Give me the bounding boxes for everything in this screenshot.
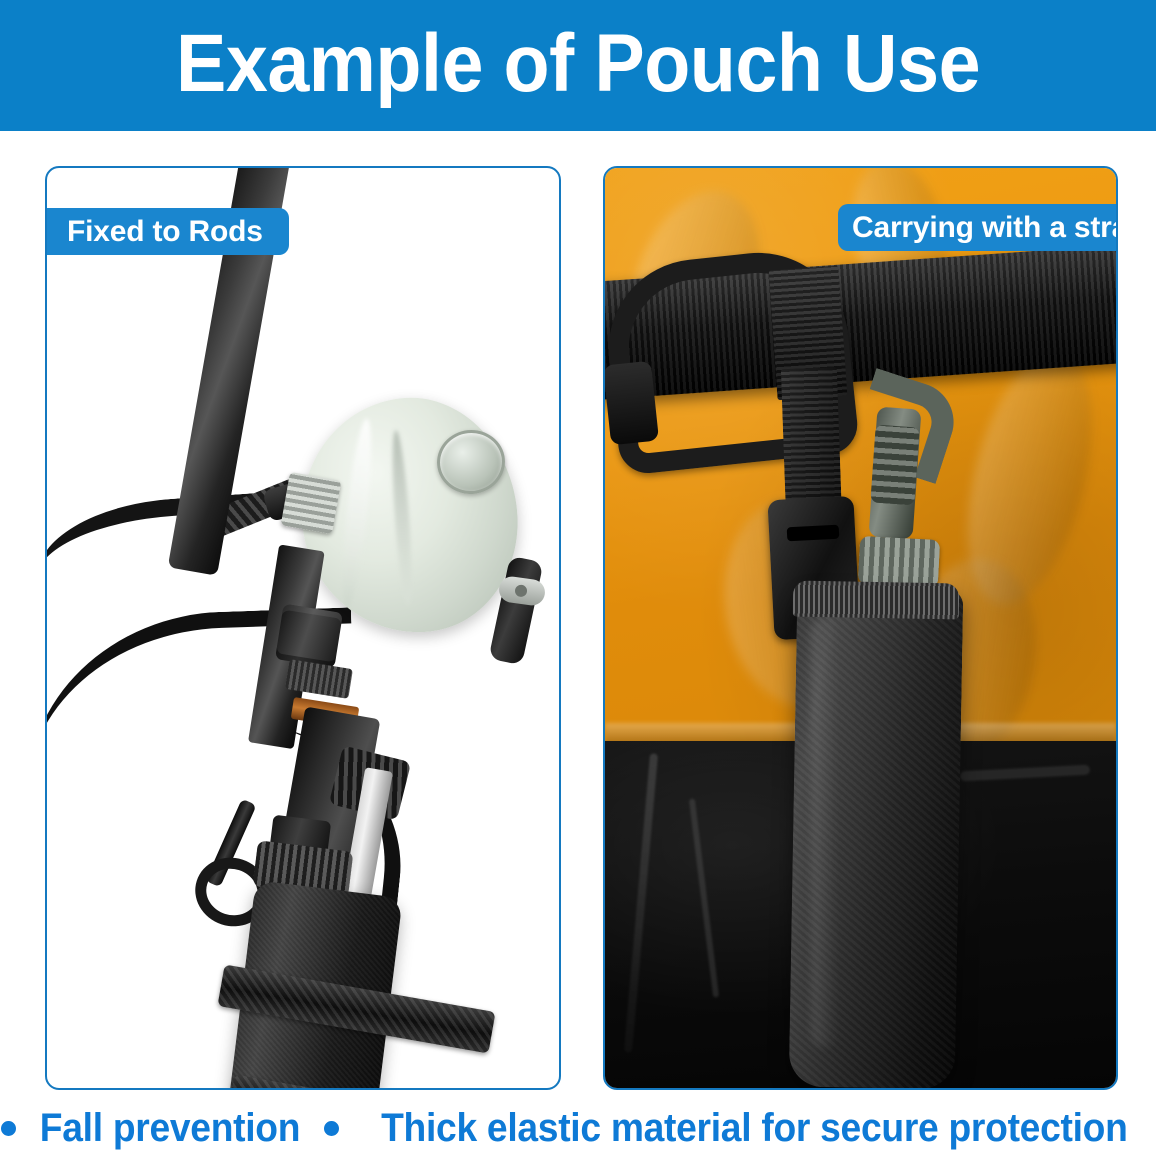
photo-rod-mounted-pouch [47, 168, 559, 1088]
badge-fixed-to-rods-label: Fixed to Rods [67, 215, 263, 249]
page-title: Example of Pouch Use [176, 23, 980, 105]
feature-caption-bar: Fall prevention Thick elastic material f… [0, 1098, 1156, 1158]
buckle-slot [787, 525, 840, 542]
bullet-dot-icon [1, 1121, 16, 1136]
feature-text-thick-elastic-material: Thick elastic material for secure protec… [381, 1106, 1127, 1151]
badge-fixed-to-rods: Fixed to Rods [47, 208, 289, 255]
connector-ribs [870, 425, 919, 506]
reel-rod-clamp [281, 472, 342, 534]
connector-collar [858, 536, 940, 588]
rod-joint-collar [275, 604, 343, 669]
belt-hook-tail [605, 361, 659, 446]
badge-carrying-with-a-strap: Carrying with a strap [838, 204, 1116, 251]
bullet-dot-icon [324, 1121, 339, 1136]
panel-fixed-to-rods: Fixed to Rods [45, 166, 561, 1090]
photo-belt-carried-pouch [605, 168, 1116, 1088]
pouch-cuff [793, 581, 960, 620]
feature-text-fall-prevention: Fall prevention [39, 1106, 299, 1151]
header-banner: Example of Pouch Use [0, 0, 1156, 131]
pouch-highlight [811, 618, 839, 1048]
panel-carrying-with-a-strap: Carrying with a strap [603, 166, 1118, 1090]
badge-carrying-with-a-strap-label: Carrying with a strap [852, 211, 1118, 245]
